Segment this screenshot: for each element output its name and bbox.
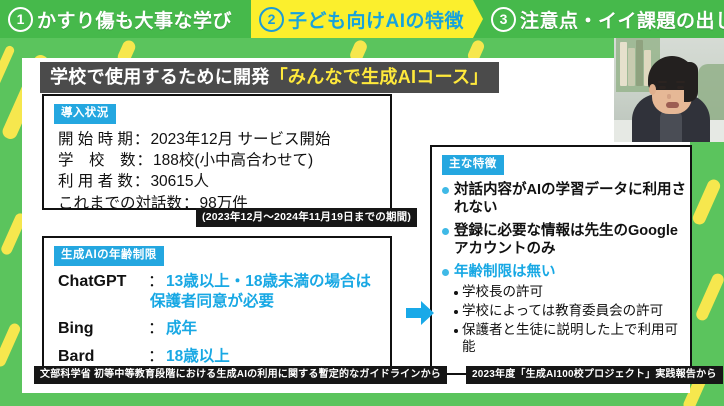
source-caption-left: 文部科学省 初等中等教育段階における生成AIの利用に関する暫定的なガイドラインか… bbox=[34, 366, 447, 384]
list-item: 対話内容がAIの学習データに利用されない bbox=[442, 181, 690, 217]
row-separator: ： bbox=[134, 171, 150, 192]
person-eyebrow bbox=[676, 81, 685, 83]
decor-stripe bbox=[0, 322, 22, 368]
list-item: 保護者と生徒に説明した上で利用可能 bbox=[454, 322, 690, 356]
decor-stripe bbox=[0, 45, 16, 98]
page-title-prefix: 学校で使用するために開発 bbox=[50, 67, 270, 87]
panel-badge-age: 生成AIの年齢制限 bbox=[54, 246, 164, 266]
age-value: 13歳以上・18歳未満の場合は bbox=[166, 272, 371, 292]
person-eye bbox=[677, 86, 684, 89]
header-segment-2[interactable]: 2 子ども向けAIの特徴 bbox=[251, 0, 473, 38]
person-eye bbox=[659, 86, 666, 89]
period-caption: (2023年12月〜2024年11月19日までの期間) bbox=[196, 208, 417, 227]
row-label: 利 用 者 数 bbox=[58, 171, 133, 192]
row-separator: ： bbox=[134, 129, 150, 150]
age-value: 18歳以上 bbox=[166, 347, 230, 367]
panel-introduction-status: 導入状況 開 始 時 期 ： 2023年12月 サービス開始 学 校 数 ： 1… bbox=[42, 94, 392, 210]
book bbox=[628, 48, 635, 86]
bullet-dot-icon bbox=[442, 187, 449, 194]
feature-text: 年齢制限は無い bbox=[454, 263, 556, 281]
table-row: ChatGPT ： 13歳以上・18歳未満の場合は bbox=[58, 272, 390, 293]
panel-main-features: 主な特徴 対話内容がAIの学習データに利用されない 登録に必要な情報は先生のGo… bbox=[430, 145, 692, 375]
row-label: 学 校 数 bbox=[58, 150, 136, 171]
row-value: 188校(小中高合わせて) bbox=[153, 150, 313, 171]
row-separator: ： bbox=[148, 272, 164, 293]
service-name: ChatGPT bbox=[58, 272, 148, 293]
service-name: Bard bbox=[58, 347, 148, 368]
age-value-continued: 保護者同意が必要 bbox=[150, 292, 390, 312]
segment-label: 注意点・イイ課題の出し方 bbox=[520, 6, 724, 33]
row-separator: ： bbox=[148, 347, 164, 368]
segment-label: かすり傷も大事な学び bbox=[37, 6, 241, 33]
table-row: Bing ： 成年 bbox=[58, 319, 390, 340]
chevron-divider-icon bbox=[473, 0, 483, 38]
person-mouth bbox=[666, 102, 679, 108]
list-item: 学校によっては教育委員会の許可 bbox=[454, 303, 690, 320]
feature-list: 対話内容がAIの学習データに利用されない 登録に必要な情報は先生のGoogleア… bbox=[442, 181, 690, 356]
age-value: 成年 bbox=[166, 319, 197, 339]
list-item: 登録に必要な情報は先生のGoogleアカウントのみ bbox=[442, 222, 690, 258]
sub-bullet-dot-icon bbox=[454, 310, 458, 314]
sub-bullet-dot-icon bbox=[454, 291, 458, 295]
feature-text: 対話内容がAIの学習データに利用されない bbox=[454, 181, 690, 217]
service-name: Bing bbox=[58, 319, 148, 340]
table-row: 開 始 時 期 ： 2023年12月 サービス開始 bbox=[58, 129, 390, 150]
segment-number-badge: 3 bbox=[491, 7, 516, 32]
table-row: 利 用 者 数 ： 30615人 bbox=[58, 171, 390, 192]
right-arrow-icon bbox=[404, 298, 436, 328]
interview-video-inset bbox=[614, 26, 724, 142]
topic-header: 1 かすり傷も大事な学び 2 子ども向けAIの特徴 3 注意点・イイ課題の出し方 bbox=[0, 0, 724, 38]
panel-badge-features: 主な特徴 bbox=[442, 155, 504, 175]
sub-bullet-dot-icon bbox=[454, 329, 458, 333]
person-eyebrow bbox=[658, 81, 667, 83]
segment-number-badge: 1 bbox=[8, 7, 33, 32]
bullet-dot-icon bbox=[442, 228, 449, 235]
feature-text: 登録に必要な情報は先生のGoogleアカウントのみ bbox=[454, 222, 690, 258]
person-nose bbox=[667, 94, 671, 99]
sub-feature-text: 学校によっては教育委員会の許可 bbox=[462, 303, 663, 320]
row-separator: ： bbox=[148, 319, 164, 340]
sub-feature-text: 保護者と生徒に説明した上で利用可能 bbox=[462, 322, 690, 356]
panel-age-restriction: 生成AIの年齢制限 ChatGPT ： 13歳以上・18歳未満の場合は 保護者同… bbox=[42, 236, 392, 368]
segment-label: 子ども向けAIの特徴 bbox=[288, 6, 473, 33]
person-hair-side bbox=[684, 62, 698, 102]
age-rows: ChatGPT ： 13歳以上・18歳未満の場合は 保護者同意が必要 Bing … bbox=[58, 272, 390, 368]
table-row: 学 校 数 ： 188校(小中高合わせて) bbox=[58, 150, 390, 171]
intro-rows: 開 始 時 期 ： 2023年12月 サービス開始 学 校 数 ： 188校(小… bbox=[58, 129, 390, 215]
row-value: 30615人 bbox=[150, 171, 209, 192]
page-title-highlight: 「みんなで生成AIコース」 bbox=[270, 67, 489, 87]
chevron-divider-icon bbox=[241, 0, 251, 38]
header-segment-3[interactable]: 3 注意点・イイ課題の出し方 bbox=[483, 0, 724, 38]
panel-badge-intro: 導入状況 bbox=[54, 104, 116, 124]
book bbox=[620, 42, 627, 86]
decor-stripe bbox=[691, 177, 722, 226]
row-separator: ： bbox=[137, 150, 153, 171]
table-row: Bard ： 18歳以上 bbox=[58, 347, 390, 368]
list-item: 年齢制限は無い bbox=[442, 263, 690, 281]
book bbox=[636, 40, 643, 86]
row-value: 2023年12月 サービス開始 bbox=[150, 129, 330, 150]
header-segment-1[interactable]: 1 かすり傷も大事な学び bbox=[0, 0, 241, 38]
feature-sublist: 学校長の許可 学校によっては教育委員会の許可 保護者と生徒に説明した上で利用可能 bbox=[454, 284, 690, 356]
page-title: 学校で使用するために開発「みんなで生成AIコース」 bbox=[40, 62, 499, 93]
bullet-dot-icon bbox=[442, 269, 449, 276]
sub-feature-text: 学校長の許可 bbox=[462, 284, 543, 301]
row-label: 開 始 時 期 bbox=[58, 129, 133, 150]
list-item: 学校長の許可 bbox=[454, 284, 690, 301]
person-ear bbox=[649, 84, 656, 95]
decor-stripe bbox=[694, 272, 724, 323]
row-label: これまでの対話数 bbox=[58, 193, 182, 214]
infographic-root: 1 かすり傷も大事な学び 2 子ども向けAIの特徴 3 注意点・イイ課題の出し方… bbox=[0, 0, 724, 406]
source-caption-right: 2023年度「生成AI100校プロジェクト」実践報告から bbox=[466, 366, 723, 384]
segment-number-badge: 2 bbox=[259, 7, 284, 32]
